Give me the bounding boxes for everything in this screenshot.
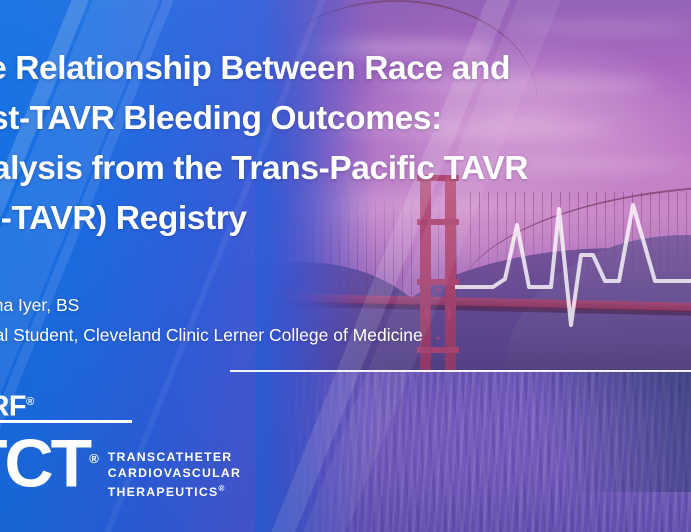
title-line-2: Post-TAVR Bleeding Outcomes: — [0, 94, 668, 144]
title-line-3: Analysis from the Trans-Pacific TAVR — [0, 144, 668, 194]
logo-divider-rule — [0, 420, 132, 423]
tct-registered-icon: ® — [89, 451, 99, 466]
horizontal-divider-rule — [230, 370, 691, 372]
tagline-registered-icon: ® — [218, 484, 224, 493]
tagline-line-3: THERAPEUTICS® — [108, 481, 241, 501]
tagline-line-2: CARDIOVASCULAR — [108, 466, 241, 482]
title-line-4: (TP-TAVR) Registry — [0, 194, 668, 244]
tagline-line-3-text: THERAPEUTICS — [108, 485, 219, 499]
tct-lockup-row: TCT® TRANSCATHETER CARDIOVASCULAR THERAP… — [0, 426, 241, 501]
page-title: The Relationship Between Race and Post-T… — [0, 44, 668, 244]
presentation-slide: The Relationship Between Race and Post-T… — [0, 0, 691, 532]
tct-crf-logo: CRF® TCT® TRANSCATHETER CARDIOVASCULAR T… — [0, 388, 34, 418]
tct-tagline: TRANSCATHETER CARDIOVASCULAR THERAPEUTIC… — [108, 450, 241, 501]
tct-wordmark: TCT® — [0, 426, 99, 497]
tct-text: TCT — [0, 426, 89, 502]
crf-registered-icon: ® — [26, 396, 34, 408]
presenter-affiliation: Medical Student, Cleveland Clinic Lerner… — [0, 320, 691, 350]
crf-wordmark: CRF® — [0, 388, 34, 418]
presenter-name: Archana Iyer, BS — [0, 290, 691, 320]
title-line-1: The Relationship Between Race and — [0, 44, 668, 94]
tagline-line-1: TRANSCATHETER — [108, 450, 241, 466]
crf-text: CRF — [0, 391, 26, 423]
presenter-block: Archana Iyer, BS Medical Student, Clevel… — [0, 290, 691, 350]
